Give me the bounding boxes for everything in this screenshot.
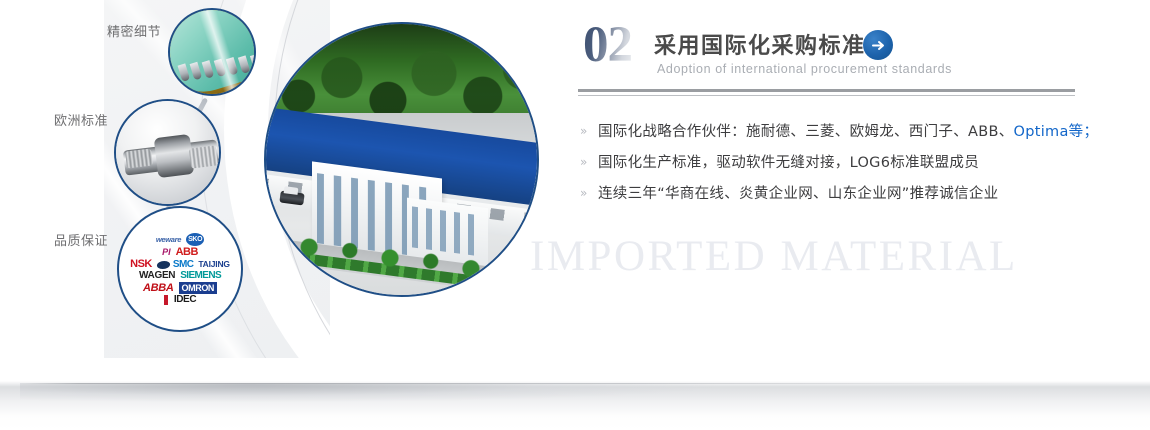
logo-pi: PI [162,248,171,257]
logo-smc: SMC [173,260,193,270]
list-item-text-plain: 国际化生产标准，驱动软件无缝对接，LOG6标准联盟成员 [598,155,979,171]
watermark-text: IMPORTED MATERIAL [530,232,1018,281]
logo-row: IDEC [123,295,237,305]
chevron-double-right-icon: » [578,186,598,200]
feature-list: » 国际化战略合作伙伴：施耐德、三菱、欧姆龙、西门子、ABB、Optima等； … [578,115,1078,208]
logo-row: WAGEN SIEMENS [123,271,237,281]
label-european-standard: 欧洲标准 [54,110,108,129]
list-item: » 连续三年“华商在线、炎黄企业网、山东企业网”推荐诚信企业 [578,177,1078,208]
logo-abb: ABB [176,247,198,258]
bubble-brand-logos[interactable]: weware SKO PI ABB NSK SMC TAIJING WAGEN … [117,206,243,332]
divider-thin [578,95,1075,96]
label-precision-detail: 精密细节 [107,21,161,40]
logo-weware: weware [156,236,181,244]
smc-swoosh-icon [156,261,171,269]
logo-omron: OMRON [179,282,218,294]
arrow-right-circle-icon[interactable] [863,30,893,60]
chevron-double-right-icon: » [578,155,598,169]
screw-thread-right [189,145,218,168]
logo-row: PI ABB [123,247,237,258]
logo-nsk: NSK [130,259,152,270]
bubble-ball-screw[interactable] [114,99,221,206]
logo-row: weware SKO [123,233,237,246]
logo-abba: ABBA [143,283,174,294]
parked-car-roof [283,186,297,195]
chevron-double-right-icon: » [578,124,598,138]
logo-taijing: TAIJING [198,260,230,269]
logo-idec: IDEC [174,295,196,305]
page-subtitle: Adoption of international procurement st… [657,62,952,76]
label-quality-assurance: 品质保证 [54,230,108,249]
factory-aerial-photo[interactable] [264,22,539,297]
page-title: 采用国际化采购标准 [654,28,866,60]
list-item-text-plain: 国际化战略合作伙伴：施耐德、三菱、欧姆龙、西门子、ABB、 [598,124,1014,140]
screw-nut [154,134,195,178]
screw-thread-left [125,148,153,168]
section-number: 02 [583,20,632,71]
logo-row: ABBA OMRON [123,282,237,294]
list-item-text-highlight: Optima等； [1014,124,1099,140]
logo-sko: SKO [186,233,204,246]
logo-row: NSK SMC TAIJING [123,259,237,270]
bottom-hairline [25,383,1130,384]
idec-bar-icon [164,295,168,305]
brand-logo-grid: weware SKO PI ABB NSK SMC TAIJING WAGEN … [119,208,241,330]
list-item: » 国际化生产标准，驱动软件无缝对接，LOG6标准联盟成员 [578,146,1078,177]
list-item-text: 国际化战略合作伙伴：施耐德、三菱、欧姆龙、西门子、ABB、Optima等； [598,120,1098,141]
logo-wagen: WAGEN [139,271,175,281]
list-item-text-plain: 连续三年“华商在线、炎黄企业网、山东企业网”推荐诚信企业 [598,186,998,202]
logo-siemens: SIEMENS [180,271,221,281]
content-column: 02 采用国际化采购标准 Adoption of international p… [578,0,1090,430]
list-item-text: 国际化生产标准，驱动软件无缝对接，LOG6标准联盟成员 [598,151,979,172]
list-item: » 国际化战略合作伙伴：施耐德、三菱、欧姆龙、西门子、ABB、Optima等； [578,115,1078,146]
bubble-gear-detail[interactable] [168,8,256,96]
list-item-text: 连续三年“华商在线、炎黄企业网、山东企业网”推荐诚信企业 [598,182,998,203]
promo-banner: weware SKO PI ABB NSK SMC TAIJING WAGEN … [0,0,1150,430]
divider-thick [578,89,1075,92]
